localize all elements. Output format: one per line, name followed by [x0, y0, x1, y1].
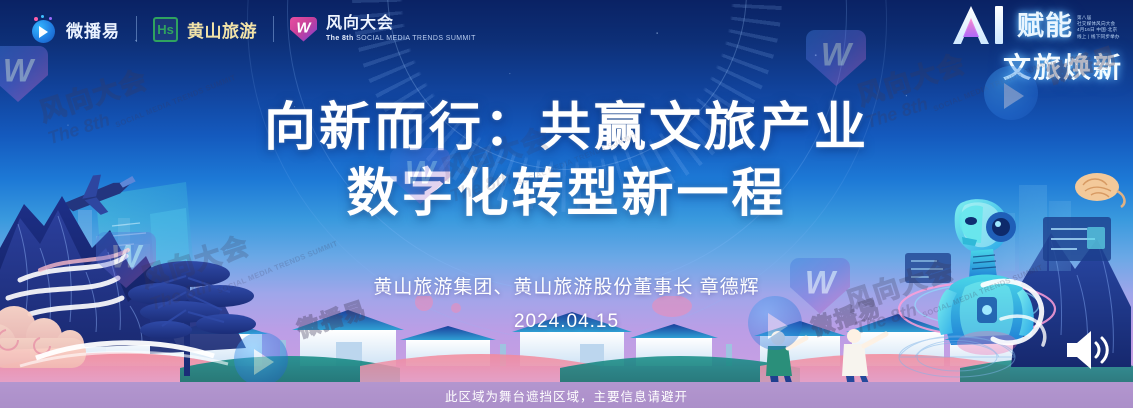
- watermark-w-letter-2: W: [405, 154, 435, 191]
- logo-fengxiang[interactable]: W 风向大会 The 8th SOCIAL MEDIA TRENDS SUMMI…: [274, 16, 492, 42]
- w-shield-letter: W: [296, 20, 310, 37]
- title-line-2: 数字化转型新一程: [0, 164, 1133, 224]
- watermark-w-letter-5: W: [111, 238, 141, 275]
- watermark-w-logo-3: W: [806, 30, 866, 86]
- logo-fengxiang-en-suffix: SOCIAL MEDIA TRENDS SUMMIT: [356, 35, 476, 42]
- watermark-play-icon-1: [234, 332, 288, 386]
- ai-badge-cn1: 赋能: [1017, 13, 1073, 40]
- logo-huangshan[interactable]: Hs 黄山旅游: [137, 17, 273, 42]
- watermark-play-icon-2: [984, 66, 1038, 120]
- ai-letters-icon: [951, 4, 1013, 44]
- watermark-w-logo-2: W: [390, 148, 450, 204]
- ai-badge-meta-line-4: 线上 | 线下同步举办: [1077, 34, 1120, 40]
- stage-mask-banner: 此区域为舞台遮挡区域，主要信息请避开: [0, 382, 1133, 408]
- watermark-w-letter-3: W: [821, 36, 851, 73]
- play-circle-icon: [30, 16, 57, 43]
- logo-huangshan-label: 黄山旅游: [187, 17, 257, 42]
- logo-weiboyi[interactable]: 微播易: [14, 16, 136, 43]
- logo-fengxiang-en-prefix: The 8th: [326, 35, 354, 42]
- subtitle-speaker: 黄山旅游集团、黄山旅游股份董事长 章德辉: [0, 272, 1133, 299]
- hs-monogram-icon: Hs: [153, 17, 178, 42]
- logo-weiboyi-label: 微播易: [66, 17, 120, 42]
- logo-fengxiang-label: 风向大会: [326, 16, 476, 32]
- watermark-w-letter-4: W: [805, 264, 835, 301]
- ai-badge-meta-line-3: 4月16日 中国·北京: [1077, 27, 1120, 33]
- speaker-volume-icon[interactable]: [1063, 329, 1109, 376]
- subtitle-date: 2024.04.15: [0, 311, 1133, 333]
- ai-badge-meta: 第八届 社交媒体风向大会 4月16日 中国·北京 线上 | 线下同步举办: [1077, 15, 1120, 40]
- watermark-w-letter-1: W: [3, 52, 33, 89]
- slide-subtitle: 黄山旅游集团、黄山旅游股份董事长 章德辉 2024.04.15: [0, 272, 1133, 333]
- slide-title: 向新而行：共赢文旅产业 数字化转型新一程: [0, 98, 1133, 225]
- title-line-1: 向新而行：共赢文旅产业: [0, 98, 1133, 158]
- watermark-w-logo-1: W: [0, 46, 48, 102]
- stage-mask-banner-text: 此区域为舞台遮挡区域，主要信息请避开: [445, 386, 688, 405]
- watermark-play-icon-3: [748, 296, 802, 350]
- w-shield-icon: W: [290, 17, 317, 42]
- slide-canvas: 微播易 Hs 黄山旅游 W 风向大会 The 8th SOCIAL MEDIA …: [0, 0, 1133, 408]
- logo-fengxiang-en: The 8th SOCIAL MEDIA TRENDS SUMMIT: [326, 35, 476, 42]
- watermark-w-logo-5: W: [96, 232, 156, 288]
